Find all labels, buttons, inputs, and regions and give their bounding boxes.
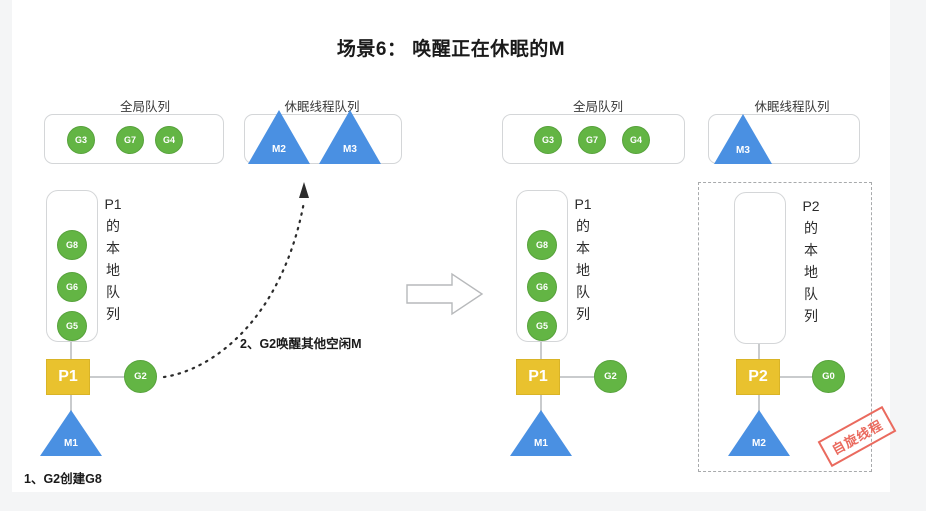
p2-g0-connector bbox=[780, 376, 812, 378]
local-queue-label-line: 地 bbox=[574, 262, 592, 279]
p1-queue-connector bbox=[70, 342, 72, 360]
local-queue-label-line: 地 bbox=[802, 264, 820, 281]
thread-label: M2 bbox=[726, 438, 792, 449]
right-p2-local-queue-box bbox=[734, 192, 786, 344]
local-queue-label-line: 本 bbox=[104, 240, 122, 257]
p1-g2-connector bbox=[560, 376, 594, 378]
goroutine-node[interactable]: G6 bbox=[57, 272, 87, 302]
goroutine-node[interactable]: G7 bbox=[578, 126, 606, 154]
page-title: 场景6： 唤醒正在休眠的M bbox=[12, 34, 890, 61]
local-queue-label-line: 队 bbox=[104, 284, 122, 301]
local-queue-label-line: 队 bbox=[574, 284, 592, 301]
local-queue-label-line: P2 bbox=[802, 198, 820, 215]
p2-queue-connector bbox=[758, 344, 760, 360]
thread-label: M1 bbox=[508, 438, 574, 449]
local-queue-label-line: 列 bbox=[104, 306, 122, 323]
processor-node-p1[interactable]: P1 bbox=[46, 359, 90, 395]
thread-label: M3 bbox=[317, 144, 383, 155]
goroutine-node[interactable]: G3 bbox=[67, 126, 95, 154]
running-goroutine-g2-right[interactable]: G2 bbox=[594, 360, 627, 393]
diagram-canvas: 场景6： 唤醒正在休眠的M 全局队列 G3 G7 G4 休眠线程队列 M2 M3… bbox=[12, 0, 890, 492]
goroutine-node[interactable]: G5 bbox=[527, 311, 557, 341]
thread-node[interactable]: M3 bbox=[317, 108, 383, 166]
local-queue-label-line: 的 bbox=[104, 218, 122, 235]
p1-queue-connector bbox=[540, 342, 542, 360]
local-queue-label-line: 队 bbox=[802, 286, 820, 303]
curved-dotted-arrow-icon bbox=[152, 170, 332, 390]
local-queue-label-line: 的 bbox=[802, 220, 820, 237]
local-queue-label-line: 列 bbox=[802, 308, 820, 325]
left-global-queue-label: 全局队列 bbox=[60, 96, 230, 115]
local-queue-label-line: P1 bbox=[574, 196, 592, 213]
triangle-icon bbox=[726, 408, 792, 458]
goroutine-node[interactable]: G4 bbox=[622, 126, 650, 154]
thread-label: M1 bbox=[38, 438, 104, 449]
goroutine-node[interactable]: G6 bbox=[527, 272, 557, 302]
processor-node-p2[interactable]: P2 bbox=[736, 359, 780, 395]
goroutine-node[interactable]: G8 bbox=[527, 230, 557, 260]
caption-step-1: 1、G2创建G8 bbox=[24, 468, 102, 487]
local-queue-label-line: P1 bbox=[104, 196, 122, 213]
triangle-icon bbox=[712, 112, 774, 166]
thread-label: M2 bbox=[246, 144, 312, 155]
goroutine-node[interactable]: G5 bbox=[57, 311, 87, 341]
thread-node[interactable]: M3 bbox=[712, 112, 774, 166]
triangle-icon bbox=[317, 108, 383, 166]
running-goroutine-g0[interactable]: G0 bbox=[812, 360, 845, 393]
local-queue-label-line: 本 bbox=[802, 242, 820, 259]
p1-g2-connector bbox=[90, 376, 124, 378]
right-arrow-icon bbox=[406, 272, 486, 316]
local-queue-label-line: 本 bbox=[574, 240, 592, 257]
thread-node-m1[interactable]: M1 bbox=[38, 408, 104, 458]
goroutine-node[interactable]: G4 bbox=[155, 126, 183, 154]
goroutine-node[interactable]: G7 bbox=[116, 126, 144, 154]
thread-node-m1-right[interactable]: M1 bbox=[508, 408, 574, 458]
local-queue-label-line: 的 bbox=[574, 218, 592, 235]
thread-label: M3 bbox=[712, 145, 774, 156]
triangle-icon bbox=[246, 108, 312, 166]
local-queue-label-line: 列 bbox=[574, 306, 592, 323]
annotation-step-2: 2、G2唤醒其他空闲M bbox=[240, 333, 362, 352]
processor-node-p1-right[interactable]: P1 bbox=[516, 359, 560, 395]
thread-node-m2[interactable]: M2 bbox=[726, 408, 792, 458]
local-queue-label-line: 地 bbox=[104, 262, 122, 279]
right-global-queue-label: 全局队列 bbox=[508, 96, 688, 115]
goroutine-node[interactable]: G3 bbox=[534, 126, 562, 154]
triangle-icon bbox=[38, 408, 104, 458]
thread-node[interactable]: M2 bbox=[246, 108, 312, 166]
goroutine-node[interactable]: G8 bbox=[57, 230, 87, 260]
triangle-icon bbox=[508, 408, 574, 458]
